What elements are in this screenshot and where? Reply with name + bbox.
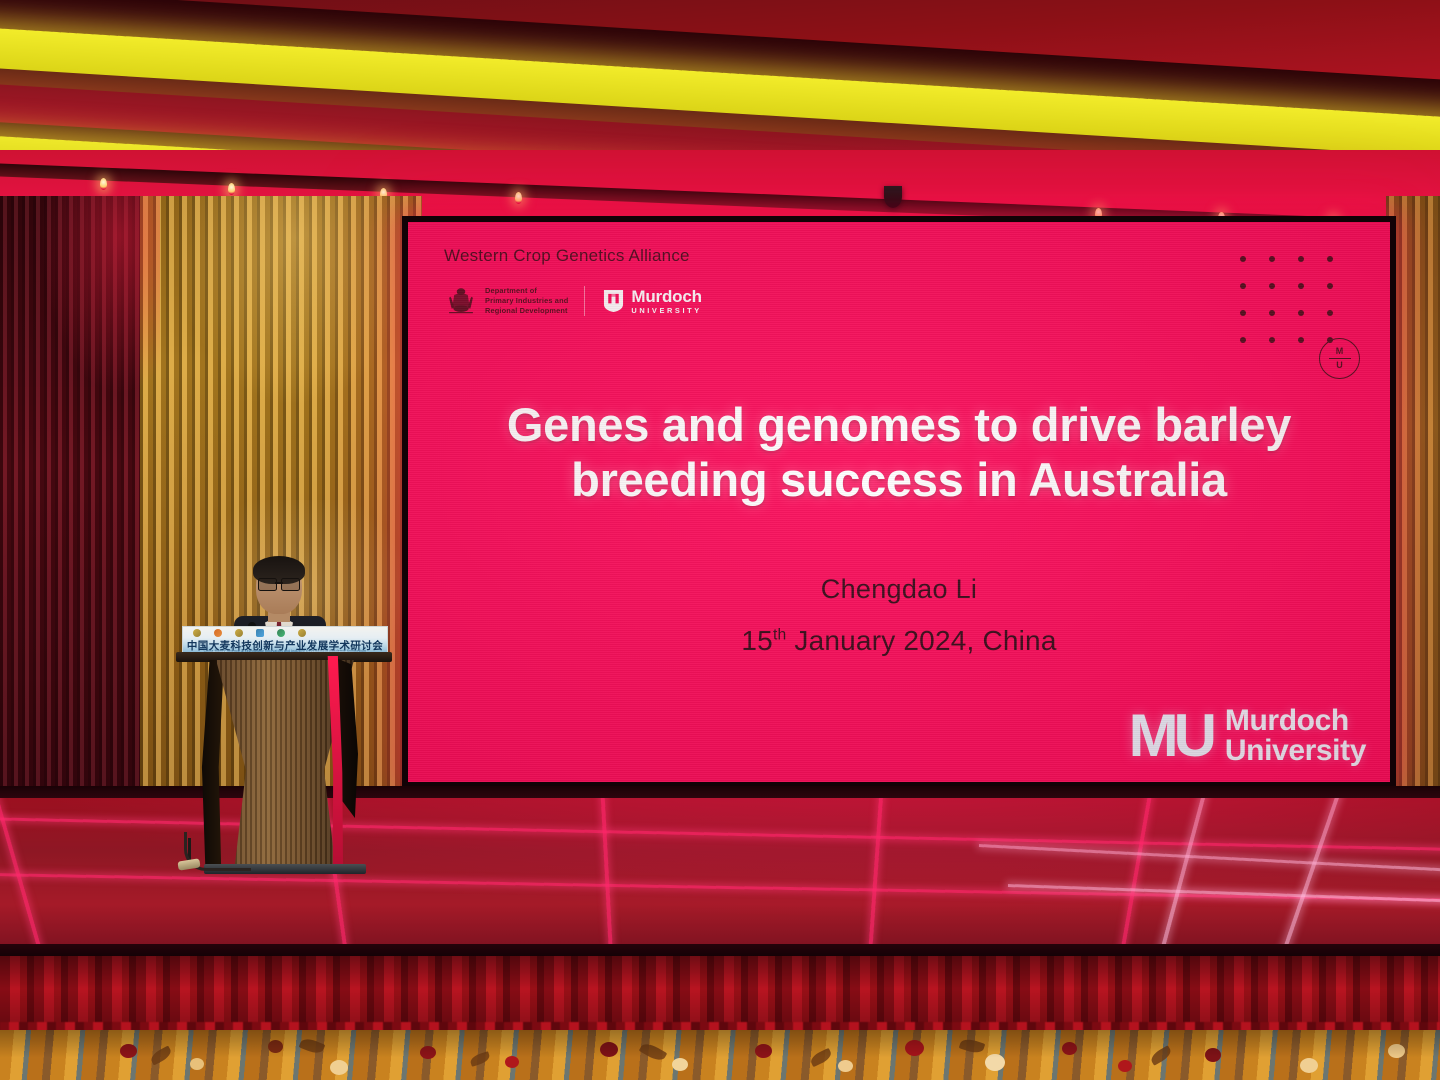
patterned-floor-carpet [0, 1030, 1440, 1080]
dpird-logo: Department of Primary Industries and Reg… [444, 284, 582, 318]
logo-divider [584, 286, 585, 316]
alliance-title: Western Crop Genetics Alliance [444, 246, 690, 266]
presentation-slide[interactable]: Western Crop Genetics Alliance Departmen… [408, 222, 1390, 782]
murdoch-university-footer-logo: MU Murdoch University [1129, 706, 1366, 766]
murdoch-header-logo: Murdoch UNIVERSITY [603, 288, 701, 314]
stage-skirt-valance [0, 956, 1440, 1038]
date-rest: January 2024, China [786, 625, 1056, 656]
header-logo-row: Department of Primary Industries and Reg… [444, 284, 702, 318]
presenter-name: Chengdao Li [408, 574, 1390, 605]
wa-government-crest-icon [444, 284, 478, 318]
presentation-date: 15th January 2024, China [408, 625, 1390, 657]
murdoch-name: Murdoch [631, 288, 701, 305]
murdoch-shield-icon [603, 289, 624, 313]
mu-footer-line-1: Murdoch [1225, 706, 1366, 736]
murdoch-subtitle: UNIVERSITY [631, 307, 701, 314]
mu-footer-line-2: University [1225, 736, 1366, 766]
mu-badge-top: M [1336, 347, 1344, 356]
dpird-line-3: Regional Development [485, 306, 568, 316]
glasses-icon [258, 578, 300, 589]
slide-byline: Chengdao Li 15th January 2024, China [408, 574, 1390, 657]
lectern-and-speaker: 中国大麦科技创新与产业发展学术研讨会 China Barley Science … [176, 560, 392, 906]
dpird-line-1: Department of [485, 286, 568, 296]
mu-circular-badge: M U [1319, 338, 1360, 379]
banner-sponsor-logos [193, 629, 306, 637]
slide-title: Genes and genomes to drive barley breedi… [408, 398, 1390, 508]
date-ordinal: th [773, 627, 786, 644]
dome-camera-icon [884, 186, 902, 208]
dpird-logo-text: Department of Primary Industries and Reg… [485, 286, 568, 315]
conference-photo-scene: Western Crop Genetics Alliance Departmen… [0, 0, 1440, 1080]
mu-monogram: MU [1129, 711, 1212, 760]
mu-badge-bottom: U [1336, 361, 1343, 370]
date-day: 15 [741, 625, 773, 656]
dpird-line-2: Primary Industries and [485, 296, 568, 306]
